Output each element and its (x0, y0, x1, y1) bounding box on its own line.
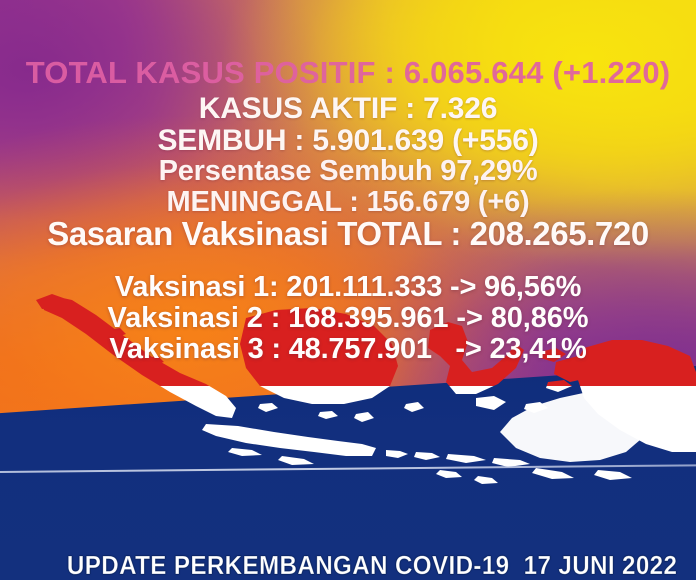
statistics-text-stack: TOTAL KASUS POSITIF : 6.065.644 (+1.220)… (0, 0, 696, 580)
footer-caption: UPDATE PERKEMBANGAN COVID-19 17 JUNI 202… (24, 519, 671, 580)
stat-recovery-percentage: Persentase Sembuh 97,29% (0, 155, 696, 188)
stat-recovered: SEMBUH : 5.901.639 (+556) (0, 124, 696, 158)
stat-total-positive: TOTAL KASUS POSITIF : 6.065.644 (+1.220) (0, 55, 696, 91)
stat-active-cases: KASUS AKTIF : 7.326 (0, 92, 696, 126)
footer-caption-text: UPDATE PERKEMBANGAN COVID-19 17 JUNI 202… (67, 550, 677, 580)
covid-update-poster: TOTAL KASUS POSITIF : 6.065.644 (+1.220)… (0, 0, 696, 580)
vaccination-block: Vaksinasi 1: 201.111.333 -> 96,56% Vaksi… (0, 272, 696, 365)
stat-vaccination-target: Sasaran Vaksinasi TOTAL : 208.265.720 (0, 215, 696, 253)
vaccination-dose-2: Vaksinasi 2 : 168.395.961 -> 80,86% (0, 303, 696, 334)
vaccination-dose-1: Vaksinasi 1: 201.111.333 -> 96,56% (0, 272, 696, 303)
vaccination-dose-3: Vaksinasi 3 : 48.757.901 -> 23,41% (0, 334, 696, 365)
